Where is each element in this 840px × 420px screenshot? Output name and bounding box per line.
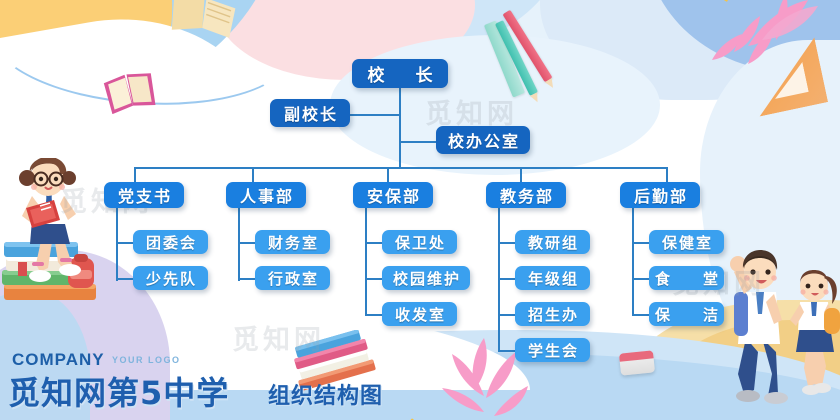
- stub-d5c1: [632, 242, 649, 244]
- node-party-secretary[interactable]: 党支书: [104, 182, 184, 208]
- node-teaching-research-group[interactable]: 教研组: [515, 230, 590, 254]
- stub-d4c4: [498, 350, 515, 352]
- node-security-department[interactable]: 安保部: [353, 182, 433, 208]
- node-mailroom[interactable]: 收发室: [382, 302, 457, 326]
- connector-vice-principal: [345, 114, 400, 116]
- stub-d1c1: [116, 242, 133, 244]
- stub-d4c3: [498, 314, 515, 316]
- brand-company-name: COMPANY: [12, 350, 105, 370]
- node-finance-office[interactable]: 财务室: [255, 230, 330, 254]
- stub-d5c3: [632, 314, 649, 316]
- connector-drop-d2: [252, 167, 254, 182]
- node-grade-group[interactable]: 年级组: [515, 266, 590, 290]
- poster-subtitle: 组织结构图: [268, 378, 383, 410]
- node-logistics-department[interactable]: 后勤部: [620, 182, 700, 208]
- poster-title: 觅知网第5中学: [8, 368, 229, 414]
- stub-d1c2: [116, 278, 133, 280]
- stub-d2c1: [238, 242, 255, 244]
- stub-d5c2: [632, 278, 649, 280]
- node-canteen[interactable]: 食 堂: [649, 266, 724, 290]
- connector-office: [399, 141, 439, 143]
- node-hr-department[interactable]: 人事部: [226, 182, 306, 208]
- stub-d4c1: [498, 242, 515, 244]
- node-admissions-office[interactable]: 招生办: [515, 302, 590, 326]
- stub-d3c2: [365, 278, 382, 280]
- node-academic-affairs[interactable]: 教务部: [486, 182, 566, 208]
- node-youth-league[interactable]: 团委会: [133, 230, 208, 254]
- poster-canvas: 觅知网 觅知网 觅知网 觅知网: [0, 0, 840, 420]
- connector-drop-d1: [134, 167, 136, 182]
- node-campus-maintenance[interactable]: 校园维护: [382, 266, 470, 290]
- spine-d3: [365, 206, 367, 316]
- stub-d2c2: [238, 278, 255, 280]
- connector-root-trunk: [399, 88, 401, 168]
- stub-d3c1: [365, 242, 382, 244]
- node-cleaning[interactable]: 保 洁: [649, 302, 724, 326]
- spine-d5: [632, 206, 634, 316]
- connector-drop-d4: [520, 167, 522, 182]
- connector-department-bus: [134, 167, 667, 169]
- brand-logo-tagline: YOUR LOGO: [112, 355, 181, 365]
- node-security-office[interactable]: 保卫处: [382, 230, 457, 254]
- spine-d1: [116, 206, 118, 281]
- stub-d3c3: [365, 314, 382, 316]
- node-student-union[interactable]: 学生会: [515, 338, 590, 362]
- node-vice-principal[interactable]: 副校长: [270, 99, 350, 127]
- node-health-room[interactable]: 保健室: [649, 230, 724, 254]
- node-principal[interactable]: 校 长: [352, 59, 448, 88]
- spine-d2: [238, 206, 240, 281]
- connector-drop-d5: [666, 167, 668, 182]
- node-school-office[interactable]: 校办公室: [436, 126, 530, 154]
- node-admin-office[interactable]: 行政室: [255, 266, 330, 290]
- stub-d4c2: [498, 278, 515, 280]
- connector-drop-d3: [387, 167, 389, 182]
- node-young-pioneers[interactable]: 少先队: [133, 266, 208, 290]
